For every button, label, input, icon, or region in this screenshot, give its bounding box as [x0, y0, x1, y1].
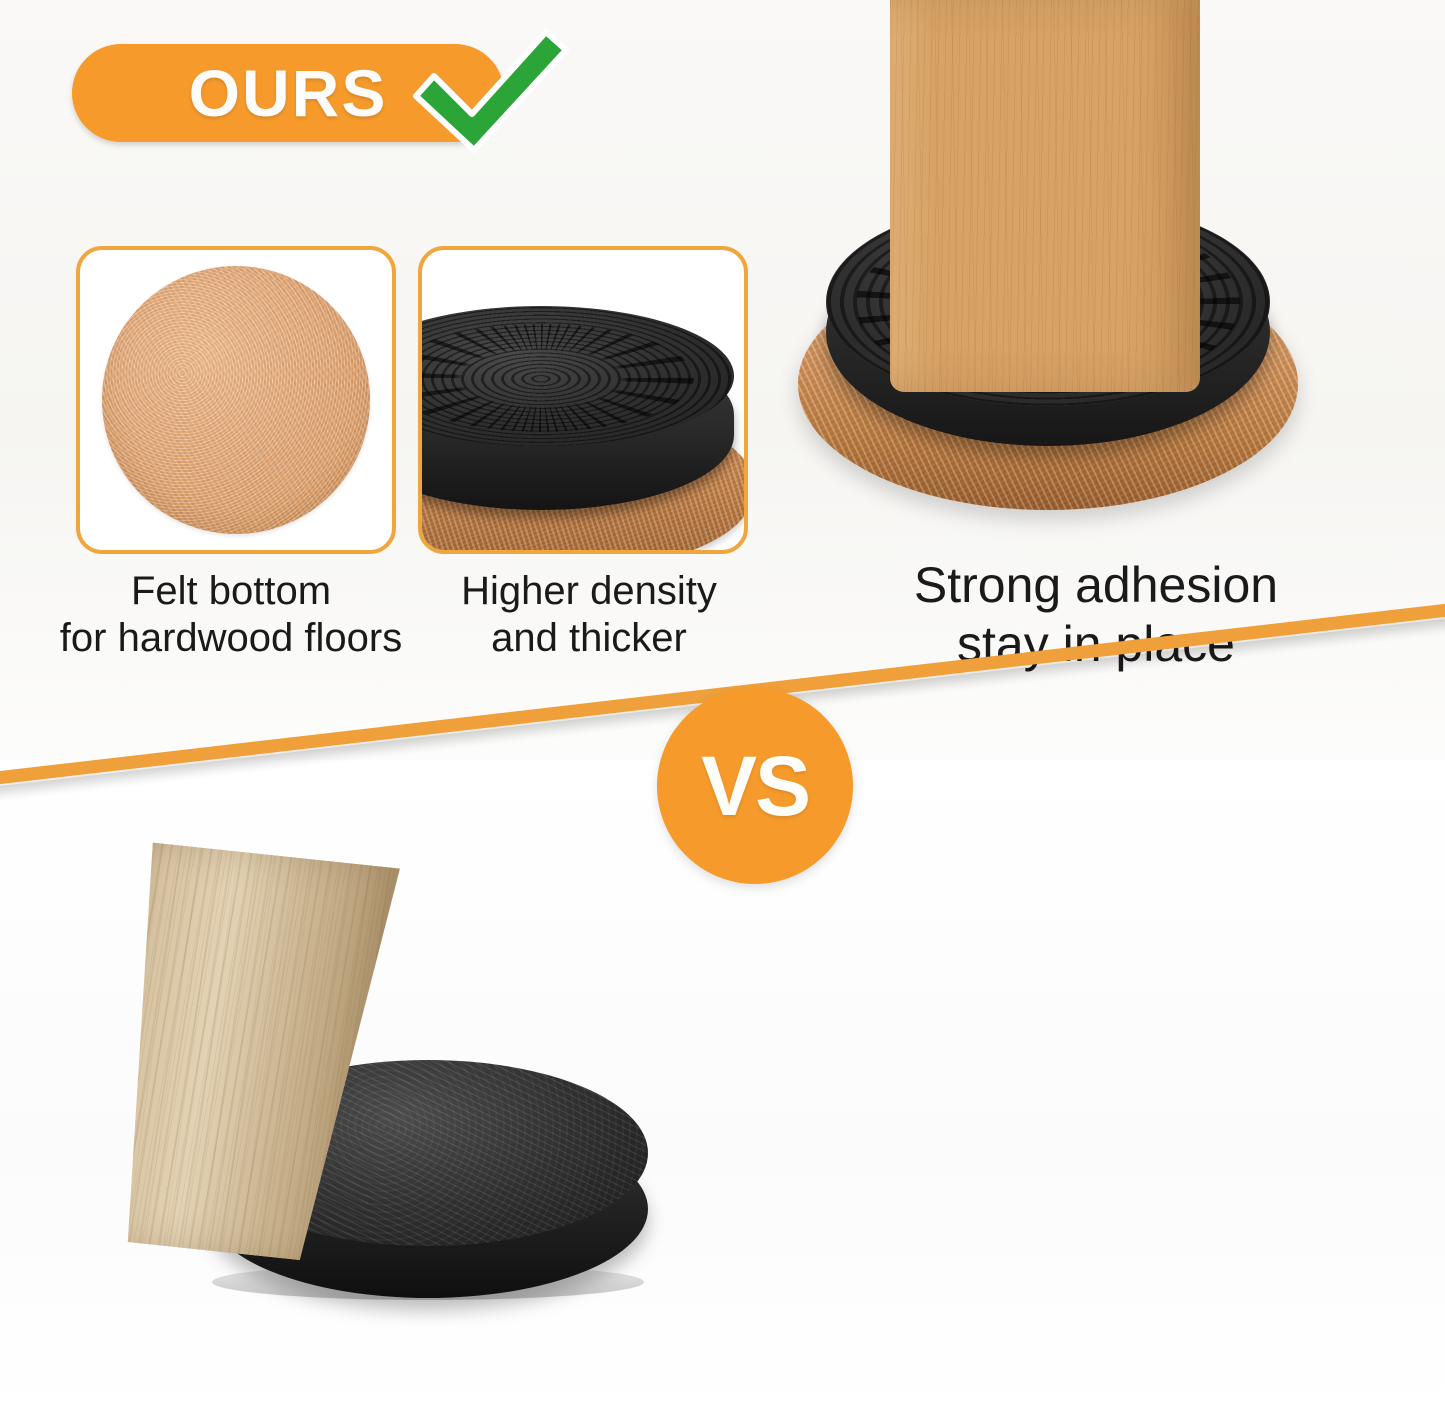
caption-higher-density: Higher density and thicker [424, 568, 754, 662]
leg-slipping-off-pad-photo [30, 860, 730, 1330]
caption-felt-bottom: Felt bottom for hardwood floors [36, 568, 426, 662]
thick-rubber-felt-pad-photo [418, 246, 748, 554]
ours-section: OURS [0, 0, 1445, 790]
vs-label: VS [701, 738, 809, 835]
caption-line: Higher density [424, 568, 754, 615]
ours-badge-label: OURS [189, 55, 388, 131]
vs-badge: VS [657, 688, 853, 884]
felt-pad-closeup-photo [76, 246, 396, 554]
caption-line: for hardwood floors [36, 615, 426, 662]
green-check-icon [404, 22, 574, 162]
wood-leg-on-pad-photo [770, 0, 1410, 560]
caption-line: and thicker [424, 615, 754, 662]
caption-line: Strong adhesion [846, 556, 1346, 615]
caption-line: Felt bottom [36, 568, 426, 615]
comparison-infographic: OURS [0, 0, 1445, 1413]
